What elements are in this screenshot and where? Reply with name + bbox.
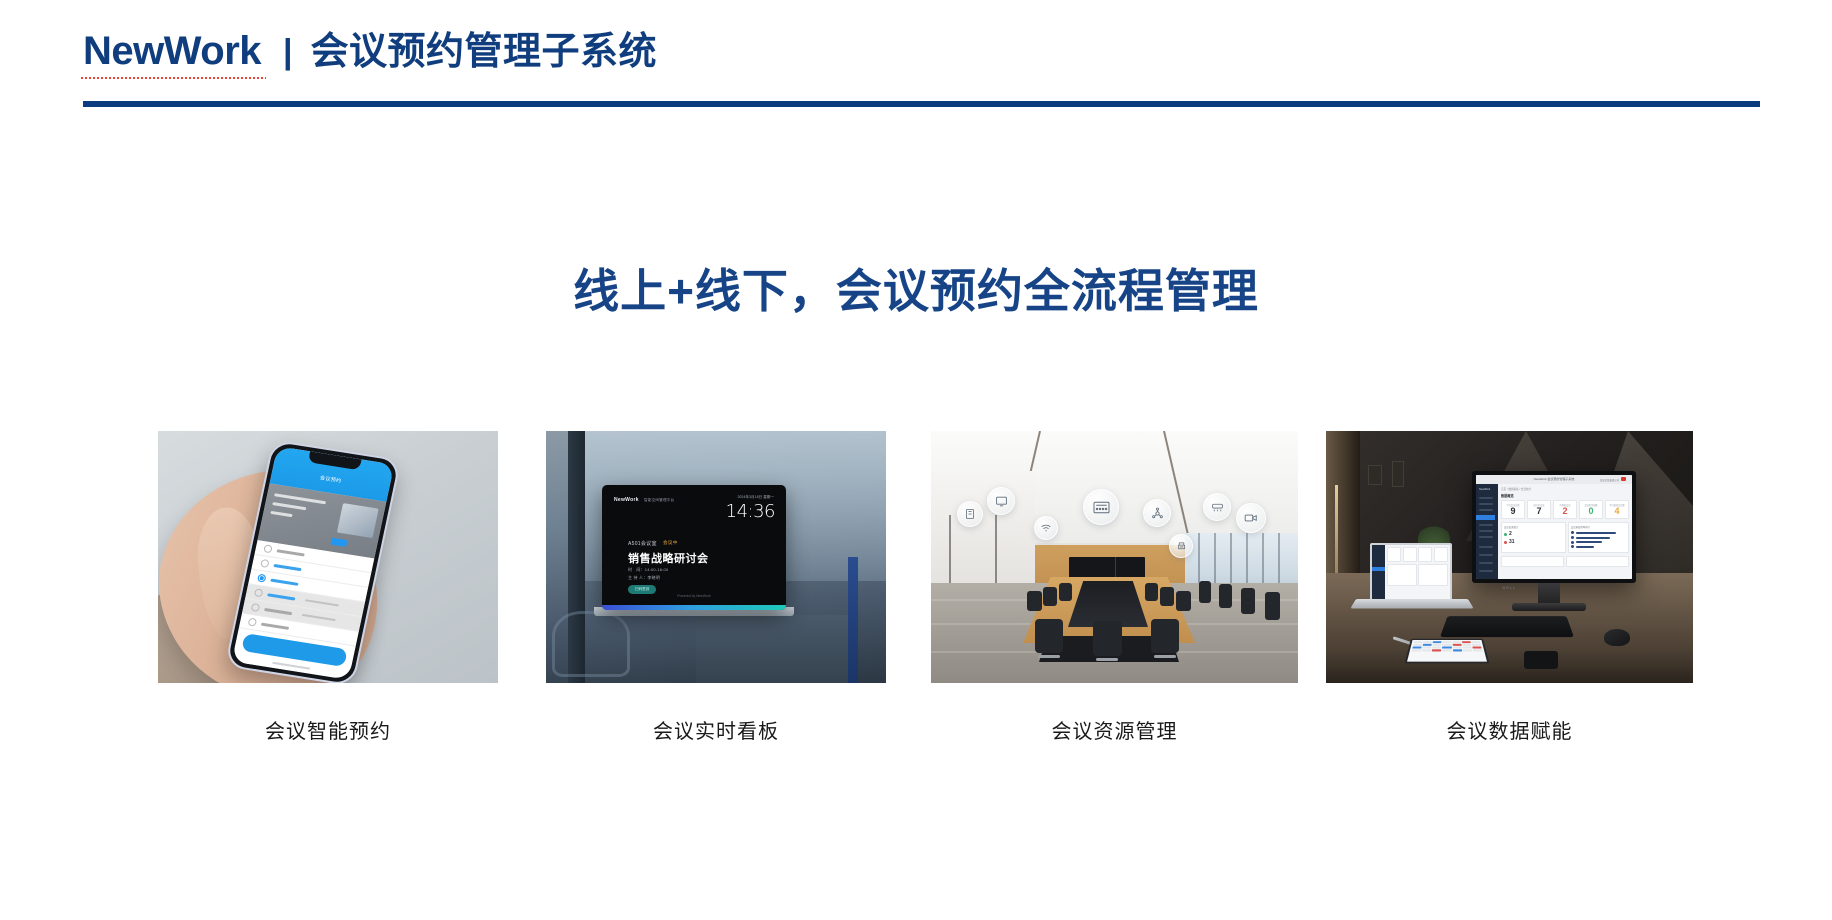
wifi-icon [1034,516,1058,540]
dashboard-sidebar: NewWork [1476,484,1498,579]
org-logo-icon [1621,477,1626,481]
slot-time [273,563,301,570]
laptop-dashboard [1385,545,1450,599]
slot-time [270,578,298,585]
slide-header: NewWork | 会议预约管理子系统 [0,0,1832,120]
status-dot-icon [1504,541,1507,544]
kpi-value: 9 [1503,507,1523,516]
display-meeting-title: 销售战略研讨会 [628,550,709,566]
laptop-panel-row [1387,564,1448,586]
wall-art [1368,465,1382,485]
monitor-stand-neck [1538,583,1560,605]
display-brand: NewWork [614,497,639,503]
brand-name: NewWork [83,29,261,73]
hero-line-2 [272,502,306,510]
photo-conference-room [931,431,1298,683]
status-badge: 会议中 [663,540,678,546]
sidebar-item[interactable] [1479,509,1493,511]
monitor-stand-foot [1512,603,1586,611]
chair-foreground [1093,621,1122,656]
photo-wall-mounted-display: NewWork 智能空间管理平台 2024年3月18日 星期一 14:36 A5… [546,431,886,683]
chair-foreground [1035,619,1063,653]
camera-icon [1236,503,1266,533]
card-caption: 会议智能预约 [158,715,498,744]
chair [1027,591,1042,611]
photo-background: NewWork 智能空间管理平台 2024年3月18日 星期一 14:36 A5… [546,431,886,683]
radio-icon[interactable] [263,544,273,553]
slot-time [261,622,289,629]
chair [1176,591,1191,611]
brand-wrapper: NewWork [83,29,261,74]
control-panel-icon [1083,489,1119,525]
radio-icon[interactable] [260,559,270,568]
sidebar-item[interactable] [1479,546,1493,548]
org-label: 某某某某集团公司 [1600,478,1619,482]
feature-card-meeting-smart-booking: 会议预约 [158,431,498,744]
display-meeting-host: 主 持 人：李晓明 [628,575,660,581]
radio-icon[interactable] [254,588,264,597]
radio-icon[interactable] [248,618,258,627]
slot-time [277,549,305,556]
radio-icon[interactable] [251,603,261,612]
display-footer: Powered by NewWork [602,594,786,598]
window-title: NewWork 会议预约管理子系统 [1534,477,1575,481]
rank-row [1571,531,1626,534]
desk-block [696,615,856,683]
sidebar-item[interactable] [1479,503,1493,505]
display-room-name: A501会议室 [628,540,657,547]
kpi-value: 4 [1607,507,1627,516]
stat-row: 2 [1504,531,1563,537]
card-caption: 会议实时看板 [546,715,886,744]
keyboard[interactable] [1440,616,1574,637]
chair-foreground [1151,619,1179,653]
chair [1059,583,1072,601]
kpi-value: 7 [1529,507,1549,516]
kpi-card: 进行中会议 7 [1527,500,1551,519]
sidebar-title: NewWork [1479,488,1490,491]
door-access-icon [957,501,983,527]
sidebar-item[interactable] [1479,554,1493,556]
slot-note [302,614,336,622]
rank-row [1571,536,1626,539]
display-brand-sub: 智能空间管理平台 [644,498,674,503]
laptop-kpi-card [1403,547,1417,562]
spellcheck-underline-icon [81,76,266,80]
feature-card-meeting-resource-management: 会议资源管理 [931,431,1298,744]
photo-hand-holding-phone: 会议预约 [158,431,498,683]
status-dot-icon [1504,533,1507,536]
smartphone-on-desk [1524,651,1558,669]
slot-time [264,607,292,614]
display-date: 2024年3月18日 星期一 [737,495,774,500]
laptop-panel [1418,564,1448,586]
monitor-brand-label: DELL [1502,585,1516,590]
printer-icon [1169,534,1193,558]
laptop-kpi-row [1387,547,1448,562]
monitor-screen: NewWork 会议预约管理子系统 某某某某集团公司 NewWork [1476,475,1632,579]
dashboard-main: 首页 / 数据看板 / 会议统计 数据概览 今日会议总数 9 进行中会议 7 [1498,484,1632,579]
photo-desk-dashboard: NewWork 会议预约管理子系统 某某某某集团公司 NewWork [1326,431,1693,683]
chair-base [1038,655,1060,658]
room-thumbnail [337,503,379,538]
chair [1043,587,1057,606]
laptop-panel [1387,564,1417,586]
chair-base [1096,658,1118,661]
kpi-card: 今日取消会议数 4 [1605,500,1629,519]
chair [1160,587,1174,606]
bottom-card-row [1501,556,1629,567]
sidebar-item[interactable] [1479,562,1493,564]
laptop-screen [1370,543,1452,601]
card-caption: 会议资源管理 [931,715,1298,744]
display-glow-bar [602,605,786,610]
laptop-kpi-card [1434,547,1448,562]
meeting-room-display: NewWork 智能空间管理平台 2024年3月18日 星期一 14:36 A5… [602,485,786,610]
chair-silhouette [552,611,630,677]
calendar-grid [1412,641,1483,651]
photo-background: 会议预约 [158,431,498,683]
photo-background: NewWork 会议预约管理子系统 某某某某集团公司 NewWork [1326,431,1693,683]
header-divider: | [283,33,293,72]
photo-background [931,431,1298,683]
feature-card-meeting-live-board: NewWork 智能空间管理平台 2024年3月18日 星期一 14:36 A5… [546,431,886,744]
chair-base [1154,655,1176,658]
chair-side [1241,588,1255,614]
mouse[interactable] [1604,629,1630,646]
display-meeting-time: 时 间：14:00-16:00 [628,567,668,573]
chair-side [1265,592,1280,620]
panel-title: 会议室使用率排行 [1571,525,1626,529]
sidebar-item[interactable] [1479,536,1493,538]
slot-time [267,593,295,600]
sidebar-item[interactable] [1479,530,1493,532]
laptop-keyboard-base [1350,599,1473,608]
card-caption: 会议数据赋能 [1326,715,1693,744]
attendance-panel: 会议出席统计 2 31 [1501,522,1566,552]
date-chip[interactable] [330,538,347,547]
usage-ranking-panel: 会议室使用率排行 [1568,522,1629,552]
department-chart-card [1566,556,1629,567]
breadcrumb: 首页 / 数据看板 / 会议统计 [1501,487,1629,491]
radio-icon-selected[interactable] [257,574,267,583]
stat-value: 2 [1509,531,1512,537]
kpi-row: 今日会议总数 9 进行中会议 7 待审批会议 2 [1501,500,1629,519]
desktop-monitor: NewWork 会议预约管理子系统 某某某某集团公司 NewWork [1472,471,1636,583]
air-conditioner-icon [1203,493,1231,521]
stat-row: 31 [1504,539,1563,545]
display-screen-icon [987,487,1015,515]
kpi-value: 2 [1555,507,1575,516]
feature-cards-row: 会议预约 [0,431,1832,751]
rank-row [1571,541,1626,544]
stat-value: 31 [1509,539,1515,545]
kpi-card: 待审批会议 2 [1553,500,1577,519]
blue-rail [848,557,858,683]
kpi-card: 会议室空闲数 0 [1579,500,1603,519]
tablet-calendar [1404,639,1489,664]
chair [1145,583,1158,601]
header-rule [83,101,1760,107]
panel-title: 会议出席统计 [1504,525,1563,529]
kpi-value: 0 [1581,507,1601,516]
sidebar-item[interactable] [1479,570,1493,572]
sidebar-item-active[interactable] [1476,515,1495,520]
laptop-sidebar [1372,545,1385,599]
wall-art [1392,461,1404,487]
sidebar-item[interactable] [1479,524,1493,526]
page-title: 线上+线下，会议预约全流程管理 [0,255,1832,321]
slot-note [305,599,339,607]
chair-side [1199,581,1211,603]
laptop-kpi-card [1387,547,1401,562]
panel-row: 会议出席统计 2 31 [1501,522,1629,552]
laptop-kpi-card [1418,547,1432,562]
checkin-button[interactable]: 扫码签到 [628,585,656,594]
laptop-sidebar-active-item[interactable] [1372,567,1385,571]
subsystem-title: 会议预约管理子系统 [311,20,658,75]
sidebar-item[interactable] [1479,497,1493,499]
hero-line-3 [270,511,292,517]
feature-card-meeting-data-insight: NewWork 会议预约管理子系统 某某某某集团公司 NewWork [1326,431,1693,744]
kpi-card: 今日会议总数 9 [1501,500,1525,519]
network-hub-icon [1143,499,1171,527]
rank-row [1571,545,1626,548]
display-clock: 14:36 [726,501,775,522]
left-wall [931,471,1035,595]
header-title-row: NewWork | 会议预约管理子系统 [83,20,657,75]
trend-chart-card [1501,556,1564,567]
chair-side [1219,584,1232,608]
page-heading: 数据概览 [1501,493,1629,498]
